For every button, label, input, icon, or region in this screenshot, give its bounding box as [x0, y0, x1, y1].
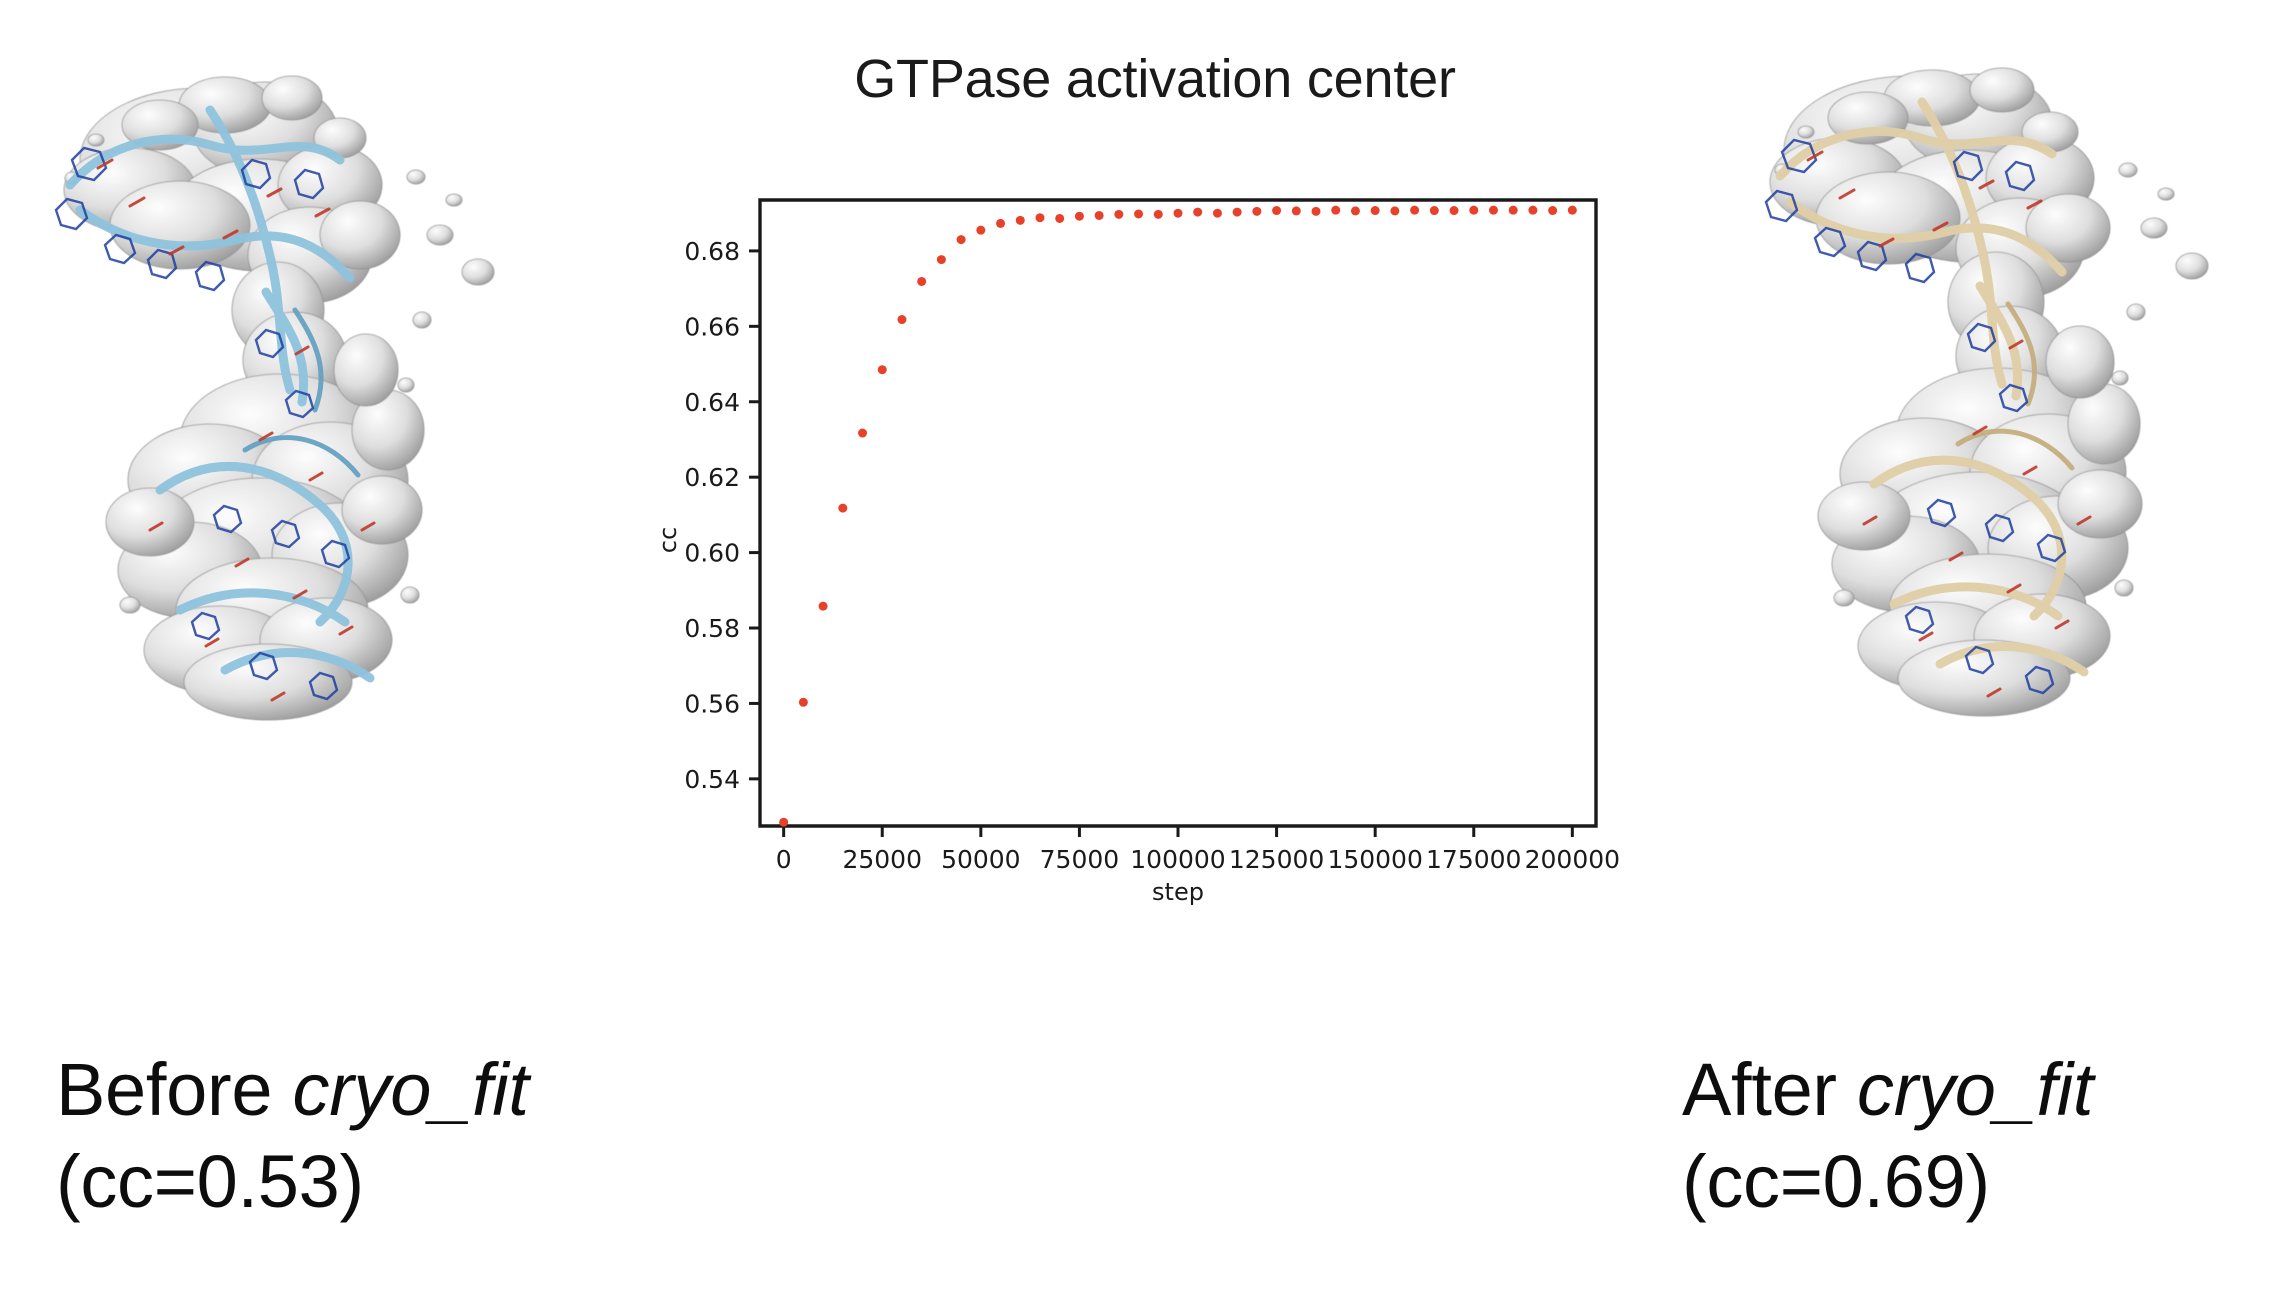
- data-point: [917, 277, 926, 286]
- cryo-em-render-after: [1710, 10, 2270, 960]
- data-point: [1410, 206, 1419, 215]
- data-point: [1075, 212, 1084, 221]
- plot-frame: [760, 200, 1596, 826]
- data-point: [1509, 206, 1518, 215]
- caption-before-emphasis: cryo_fit: [293, 1048, 529, 1131]
- y-tick-label: 0.64: [684, 388, 740, 417]
- data-point: [799, 698, 808, 707]
- caption-after-prefix: After: [1682, 1048, 1857, 1131]
- data-point: [1233, 208, 1242, 217]
- data-point: [1371, 206, 1380, 215]
- data-point: [976, 226, 985, 235]
- y-tick-label: 0.66: [684, 312, 740, 341]
- structure-image-after: [1710, 10, 2270, 960]
- data-point: [1035, 213, 1044, 222]
- x-tick-label: 175000: [1426, 845, 1521, 874]
- y-tick-label: 0.68: [684, 237, 740, 266]
- caption-after-cc: (cc=0.69): [1682, 1136, 2093, 1228]
- chart-plot-area: 0250005000075000100000125000150000175000…: [640, 20, 1670, 950]
- x-tick-label: 150000: [1327, 845, 1422, 874]
- y-axis-ticks: 0.540.560.580.600.620.640.660.68: [684, 237, 760, 794]
- caption-after-emphasis: cryo_fit: [1857, 1048, 2093, 1131]
- x-tick-label: 0: [776, 845, 792, 874]
- y-tick-label: 0.60: [684, 539, 740, 568]
- data-point: [1272, 206, 1281, 215]
- data-point: [1252, 207, 1261, 216]
- data-point: [996, 219, 1005, 228]
- chart-svg: 0250005000075000100000125000150000175000…: [640, 20, 1670, 950]
- data-point: [937, 255, 946, 264]
- data-point: [1489, 206, 1498, 215]
- cc-vs-step-chart: GTPase activation center 025000500007500…: [640, 20, 1670, 950]
- data-point: [1568, 206, 1577, 215]
- data-point: [1095, 211, 1104, 220]
- y-tick-label: 0.58: [684, 614, 740, 643]
- x-tick-label: 125000: [1229, 845, 1324, 874]
- data-point: [1469, 206, 1478, 215]
- data-point: [1430, 206, 1439, 215]
- data-point: [1154, 210, 1163, 219]
- data-point: [1548, 206, 1557, 215]
- data-point: [1174, 209, 1183, 218]
- data-point: [1528, 206, 1537, 215]
- data-point: [1114, 210, 1123, 219]
- caption-after: After cryo_fit (cc=0.69): [1682, 1044, 2093, 1228]
- x-tick-label: 50000: [941, 845, 1021, 874]
- data-point: [1055, 214, 1064, 223]
- data-point: [1213, 209, 1222, 218]
- data-point: [1193, 208, 1202, 217]
- x-tick-label: 25000: [842, 845, 922, 874]
- data-point: [1292, 206, 1301, 215]
- x-axis-label: step: [1152, 878, 1204, 906]
- data-points: [779, 206, 1577, 827]
- x-tick-label: 200000: [1525, 845, 1620, 874]
- caption-before-prefix: Before: [56, 1048, 293, 1131]
- x-axis-ticks: 0250005000075000100000125000150000175000…: [776, 826, 1620, 874]
- data-point: [858, 429, 867, 438]
- data-point: [1134, 209, 1143, 218]
- data-point: [838, 504, 847, 513]
- x-tick-label: 100000: [1130, 845, 1225, 874]
- x-tick-label: 75000: [1040, 845, 1120, 874]
- data-point: [897, 315, 906, 324]
- data-point: [1016, 216, 1025, 225]
- y-tick-label: 0.54: [684, 765, 740, 794]
- y-tick-label: 0.56: [684, 689, 740, 718]
- data-point: [1390, 206, 1399, 215]
- data-point: [957, 235, 966, 244]
- y-axis-label: cc: [654, 527, 682, 553]
- slide-canvas: GTPase activation center 025000500007500…: [0, 0, 2284, 1296]
- caption-before: Before cryo_fit (cc=0.53): [56, 1044, 529, 1228]
- y-tick-label: 0.62: [684, 463, 740, 492]
- cryo-em-render-before: [10, 10, 570, 960]
- structure-image-before: [10, 10, 570, 960]
- data-point: [1351, 206, 1360, 215]
- data-point: [1312, 207, 1321, 216]
- data-point: [1331, 206, 1340, 215]
- data-point: [1450, 206, 1459, 215]
- data-point: [819, 602, 828, 611]
- data-point: [779, 818, 788, 827]
- data-point: [878, 365, 887, 374]
- caption-before-cc: (cc=0.53): [56, 1136, 529, 1228]
